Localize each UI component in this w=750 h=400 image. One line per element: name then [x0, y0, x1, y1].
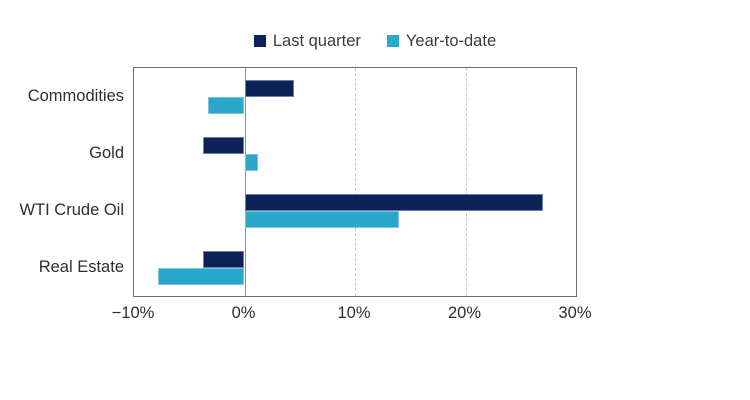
bar-wti-crude-oil-last-quarter[interactable]	[245, 194, 543, 211]
x-tick-minus-10: −10%	[112, 305, 155, 322]
legend-label-year-to-date: Year-to-date	[406, 33, 496, 50]
x-tick-30: 30%	[558, 305, 591, 322]
category-label-wti-crude-oil: WTI Crude Oil	[0, 202, 124, 219]
category-axis-labels: Commodities Gold WTI Crude Oil Real Esta…	[0, 67, 124, 297]
x-tick-10: 10%	[337, 305, 370, 322]
bar-gold-last-quarter[interactable]	[203, 137, 245, 154]
legend-entry-year-to-date[interactable]: Year-to-date	[387, 33, 496, 50]
category-label-commodities: Commodities	[0, 88, 124, 105]
plot-area	[133, 67, 577, 297]
bar-wti-crude-oil-year-to-date[interactable]	[245, 211, 400, 228]
x-tick-20: 20%	[448, 305, 481, 322]
legend-entry-last-quarter[interactable]: Last quarter	[254, 33, 361, 50]
bar-real-estate-year-to-date[interactable]	[158, 268, 244, 285]
chart-legend: Last quarter Year-to-date	[0, 33, 750, 50]
x-tick-0: 0%	[232, 305, 256, 322]
x-axis-tick-labels: −10% 0% 10% 20% 30%	[133, 305, 577, 329]
bar-commodities-year-to-date[interactable]	[208, 97, 244, 114]
bar-real-estate-last-quarter[interactable]	[203, 251, 245, 268]
bar-gold-year-to-date[interactable]	[245, 154, 258, 171]
bars-layer	[134, 68, 576, 296]
square-swatch-icon	[254, 35, 266, 47]
category-label-real-estate: Real Estate	[0, 259, 124, 276]
category-label-gold: Gold	[0, 145, 124, 162]
bar-commodities-last-quarter[interactable]	[245, 80, 295, 97]
square-swatch-icon	[387, 35, 399, 47]
performance-bar-chart: Last quarter Year-to-date Commodities Go…	[0, 0, 750, 400]
legend-label-last-quarter: Last quarter	[273, 33, 361, 50]
